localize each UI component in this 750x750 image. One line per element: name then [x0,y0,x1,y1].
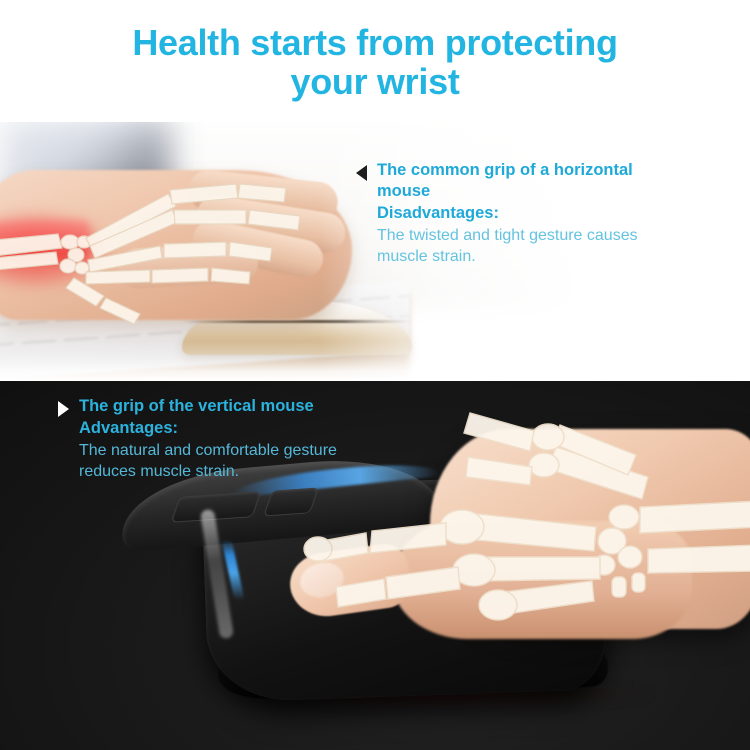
infographic-page: Health starts from protecting your wrist [0,0,750,750]
triangle-left-icon [356,165,367,181]
callout-vertical-mouse: The grip of the vertical mouse Advantage… [58,396,398,483]
callout-bottom-body: The natural and comfortable gesture redu… [79,441,398,483]
callout-horizontal-mouse: The common grip of a horizontal mouse Di… [356,160,686,267]
headline-line-2: your wrist [65,63,685,102]
photo-fade-bottom [0,341,750,381]
callout-top-subheading: Disadvantages: [377,203,686,224]
triangle-right-icon [58,401,69,417]
callout-bottom-heading: The grip of the vertical mouse [79,396,398,417]
page-title: Health starts from protecting your wrist [65,24,685,102]
headline-block: Health starts from protecting your wrist [0,0,750,122]
callout-bottom-subheading: Advantages: [79,418,398,439]
callout-top-heading: The common grip of a horizontal mouse [377,160,686,202]
headline-line-1: Health starts from protecting [132,22,617,63]
callout-top-body: The twisted and tight gesture causes mus… [377,226,686,268]
